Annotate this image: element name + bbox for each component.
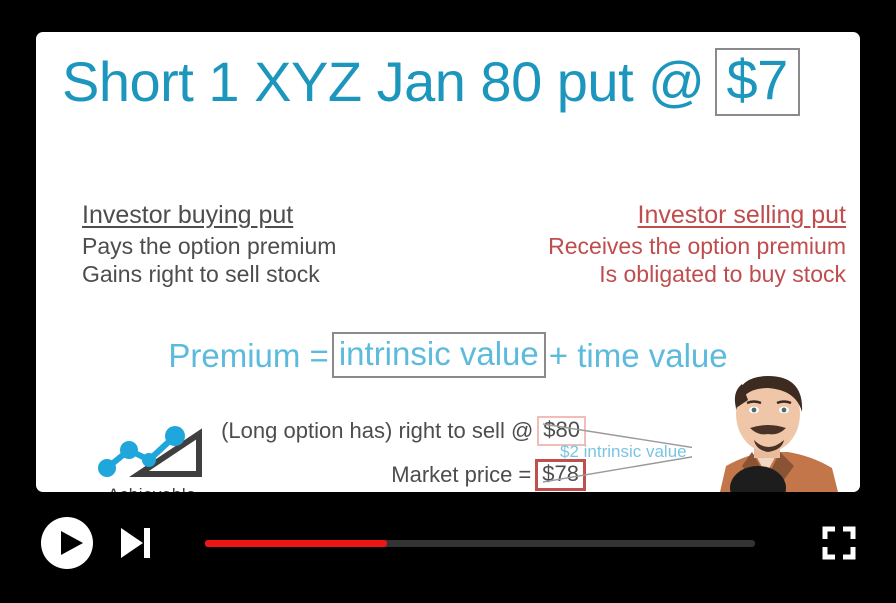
line-chart-logo-icon bbox=[91, 420, 213, 482]
play-icon bbox=[40, 516, 94, 570]
seller-line-1: Receives the option premium bbox=[548, 232, 846, 260]
premium-suffix: + time value bbox=[549, 339, 728, 372]
buyer-line-1: Pays the option premium bbox=[82, 232, 336, 260]
next-button[interactable] bbox=[115, 523, 153, 563]
video-player: Short 1 XYZ Jan 80 put @ $7 Investor buy… bbox=[0, 0, 896, 603]
intrinsic-value-box: intrinsic value bbox=[332, 332, 546, 378]
intrinsic-value-example: (Long option has) right to sell @ $80 Ma… bbox=[186, 414, 586, 492]
strike-label: (Long option has) right to sell @ bbox=[221, 418, 533, 444]
buyer-heading: Investor buying put bbox=[82, 200, 336, 231]
skip-next-icon bbox=[115, 523, 153, 563]
slide-title-text: Short 1 XYZ Jan 80 put @ bbox=[62, 54, 705, 110]
seller-column: Investor selling put Receives the option… bbox=[548, 200, 846, 288]
buyer-column: Investor buying put Pays the option prem… bbox=[82, 200, 336, 288]
progress-fill bbox=[205, 540, 387, 547]
play-button[interactable] bbox=[40, 516, 94, 570]
market-price-line: Market price = $78 bbox=[186, 458, 586, 492]
strike-line: (Long option has) right to sell @ $80 bbox=[186, 414, 586, 448]
seller-line-2: Is obligated to buy stock bbox=[548, 260, 846, 288]
buyer-line-2: Gains right to sell stock bbox=[82, 260, 336, 288]
title-price-value: $7 bbox=[727, 48, 788, 111]
slide-canvas: Short 1 XYZ Jan 80 put @ $7 Investor buy… bbox=[36, 32, 860, 492]
presenter-video-overlay bbox=[692, 370, 860, 492]
player-controls bbox=[0, 500, 896, 586]
fullscreen-button[interactable] bbox=[818, 522, 860, 564]
title-price-box: $7 bbox=[715, 48, 800, 116]
slide-title: Short 1 XYZ Jan 80 put @ $7 bbox=[62, 48, 852, 116]
presenter-video-thumbnail-icon bbox=[692, 370, 860, 492]
premium-prefix: Premium = bbox=[168, 339, 328, 372]
market-price-label: Market price = bbox=[391, 462, 531, 488]
intrinsic-value-callout: $2 intrinsic value bbox=[560, 442, 687, 462]
achievable-logo: Achievable bbox=[91, 420, 213, 492]
intrinsic-value-text: intrinsic value bbox=[339, 335, 539, 372]
fullscreen-icon bbox=[818, 522, 860, 564]
logo-wordmark: Achievable bbox=[91, 485, 213, 492]
seller-heading: Investor selling put bbox=[548, 200, 846, 231]
progress-bar[interactable] bbox=[205, 540, 755, 547]
